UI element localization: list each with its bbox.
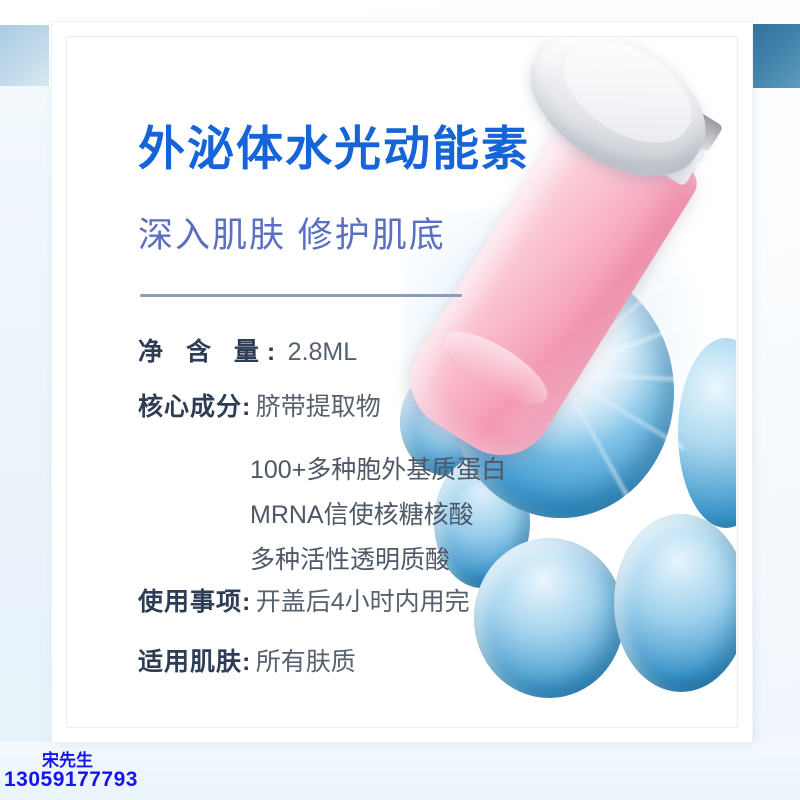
spec-value-net-content: 2.8ML bbox=[288, 338, 357, 366]
decorative-square-right bbox=[748, 24, 800, 88]
spec-label-usage-notes: 使用事项: bbox=[138, 588, 251, 616]
background-band-left bbox=[0, 86, 52, 786]
water-bubble-bottom-left bbox=[474, 538, 624, 698]
spec-value-suitable-skin: 所有肤质 bbox=[256, 648, 356, 676]
ingredient-line-3: 多种活性透明质酸 bbox=[250, 540, 450, 576]
watermark-phone: 13059177793 bbox=[4, 769, 138, 790]
product-detail-image: 外泌体水光动能素 深入肌肤 修护肌底 净 含 量: 2.8ML 核心成分: 脐带… bbox=[0, 0, 800, 800]
ingredient-line-2: MRNA信使核糖核酸 bbox=[250, 495, 474, 531]
watermark: 宋先生 13059177793 bbox=[4, 752, 138, 791]
page-title: 外泌体水光动能素 bbox=[138, 110, 530, 179]
ingredient-line-1: 100+多种胞外基质蛋白 bbox=[250, 450, 506, 486]
spec-value-core-ingredients: 脐带提取物 bbox=[256, 393, 381, 421]
spec-value-usage-notes: 开盖后4小时内用完 bbox=[256, 588, 470, 616]
watermark-name: 宋先生 bbox=[4, 752, 138, 769]
water-bubble-bottom-right bbox=[614, 514, 736, 692]
spec-label-core-ingredients: 核心成分: bbox=[138, 393, 251, 421]
decorative-square-left bbox=[0, 25, 49, 86]
title-divider bbox=[140, 294, 462, 297]
spec-label-suitable-skin: 适用肌肤: bbox=[138, 648, 251, 676]
spec-row-core-ingredients: 核心成分: 脐带提取物 bbox=[138, 395, 381, 420]
spec-row-net-content: 净 含 量: 2.8ML bbox=[138, 340, 357, 365]
spec-label-net-content: 净 含 量: bbox=[138, 338, 283, 366]
info-card: 外泌体水光动能素 深入肌肤 修护肌底 净 含 量: 2.8ML 核心成分: 脐带… bbox=[52, 22, 752, 742]
spec-row-usage-notes: 使用事项: 开盖后4小时内用完 bbox=[138, 590, 470, 615]
spec-row-suitable-skin: 适用肌肤: 所有肤质 bbox=[138, 650, 356, 675]
page-subtitle: 深入肌肤 修护肌底 bbox=[138, 207, 446, 258]
